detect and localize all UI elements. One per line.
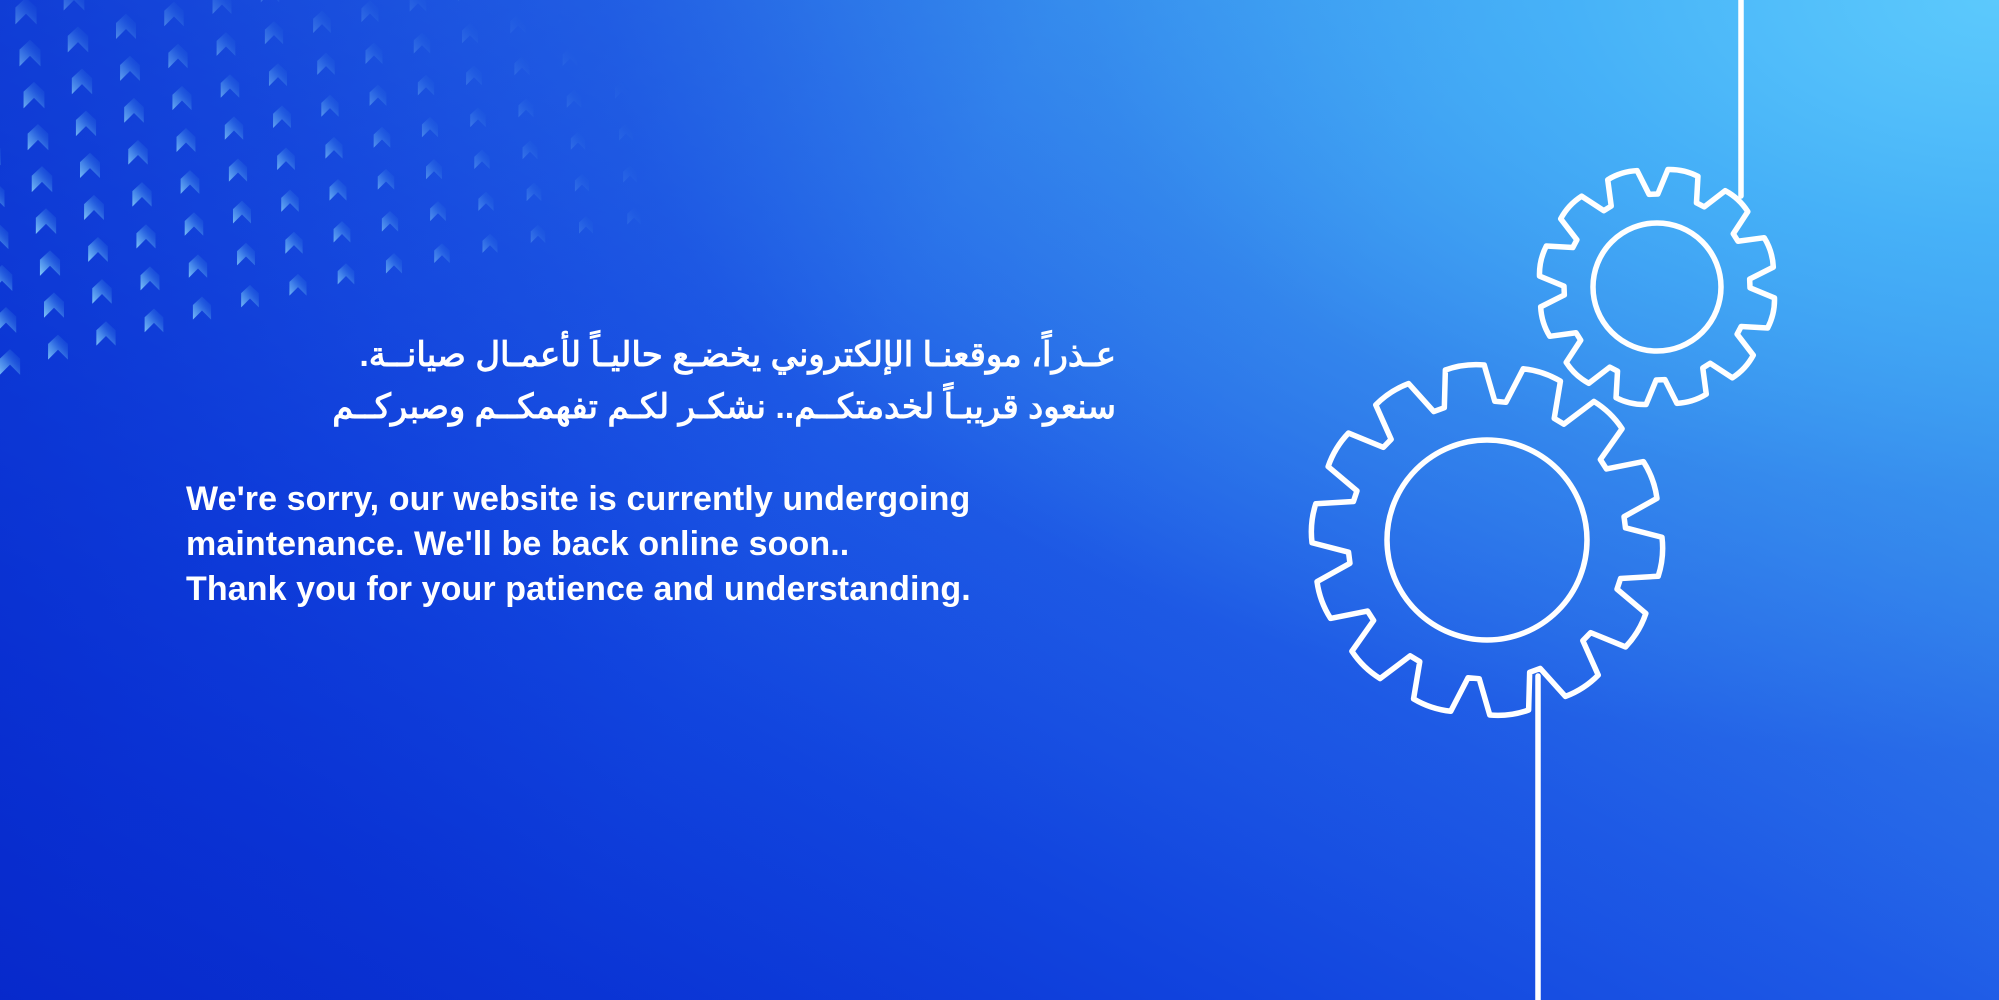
arabic-line-2: سنعود قريبـاً لخدمتكــم.. نشكـر لكـم تفه… [186, 382, 1116, 434]
english-line-3: Thank you for your patience and understa… [186, 567, 1136, 612]
maintenance-page: عـذراً، موقعنـا الإلكتروني يخضـع حاليـاً… [0, 0, 1999, 1000]
arabic-line-1: عـذراً، موقعنـا الإلكتروني يخضـع حاليـاً… [186, 330, 1116, 382]
english-line-2: maintenance. We'll be back online soon.. [186, 522, 1136, 567]
english-line-1: We're sorry, our website is currently un… [186, 477, 1136, 522]
english-message: We're sorry, our website is currently un… [186, 477, 1136, 612]
maintenance-message: عـذراً، موقعنـا الإلكتروني يخضـع حاليـاً… [186, 330, 1136, 612]
arabic-message: عـذراً، موقعنـا الإلكتروني يخضـع حاليـاً… [186, 330, 1116, 433]
